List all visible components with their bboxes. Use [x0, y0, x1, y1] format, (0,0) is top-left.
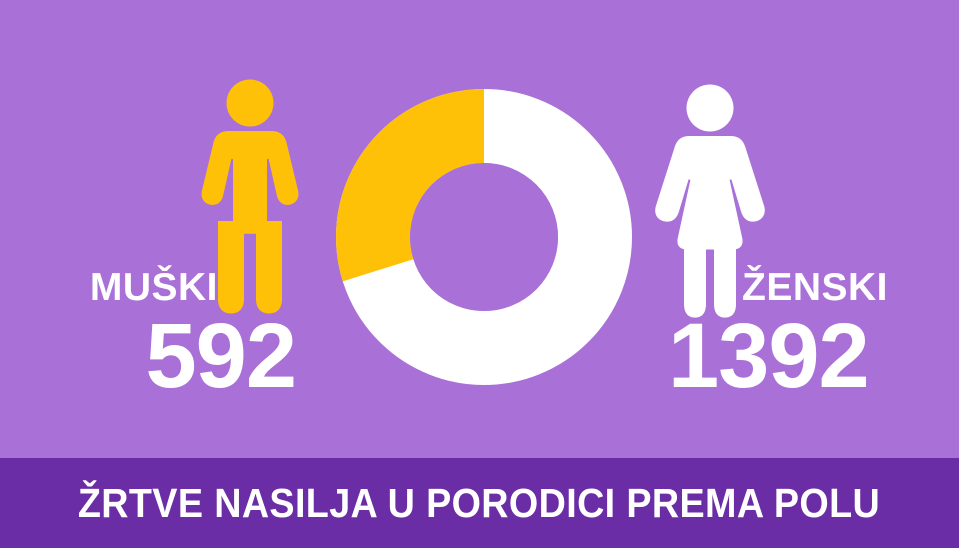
- female-stat-block: ŽENSKI 1392: [636, 266, 959, 404]
- female-gender-label: ŽENSKI: [646, 266, 959, 310]
- banner-title: ŽRTVE NASILJA U PORODICI PREMA POLU: [78, 480, 880, 527]
- male-victim-count: 592: [0, 308, 318, 404]
- male-gender-label: MUŠKI: [0, 266, 318, 310]
- donut-center-hole: [410, 163, 558, 311]
- female-victim-count: 1392: [646, 308, 959, 404]
- male-stat-block: MUŠKI 592: [0, 266, 330, 404]
- bottom-banner: ŽRTVE NASILJA U PORODICI PREMA POLU: [0, 458, 959, 548]
- donut-chart: [336, 89, 632, 385]
- infographic-root: MUŠKI 592 ŽENSKI 1392 ŽRTVE NASILJA U PO…: [0, 0, 959, 548]
